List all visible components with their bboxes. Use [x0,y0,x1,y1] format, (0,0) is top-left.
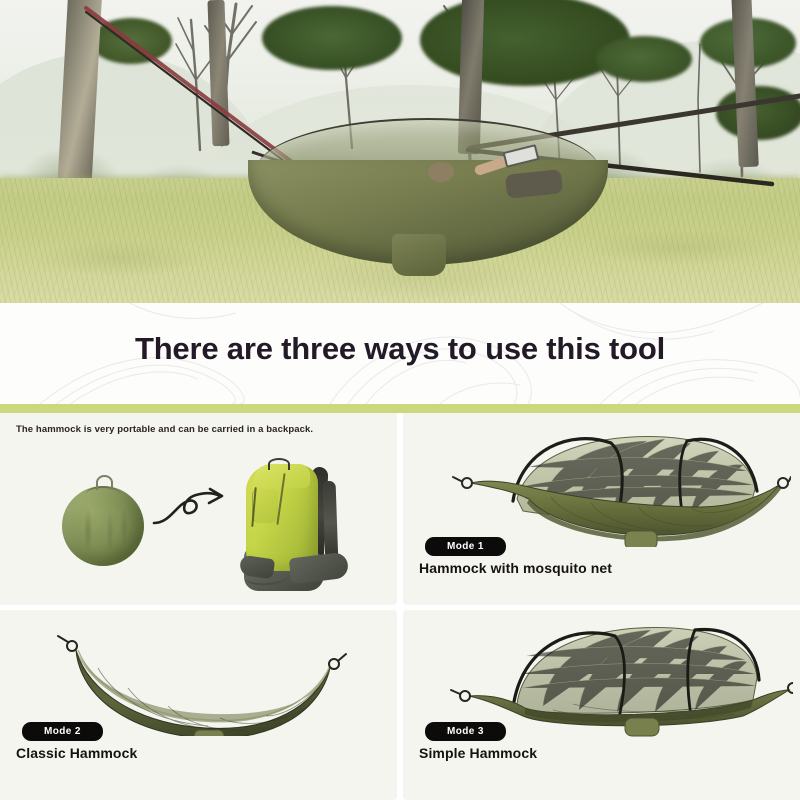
backpack-haul-handle [268,458,290,470]
backpack-illustration [232,463,360,591]
mode-1-title: Hammock with mosquito net [419,559,629,578]
backpack-hip-belt [289,552,350,585]
feature-grid: The hammock is very portable and can be … [0,413,800,800]
mode-3-title: Simple Hammock [419,744,629,763]
product-feature-page: There are three ways to use this tool Th… [0,0,800,800]
sack-hang-loop [96,475,113,490]
hammock-gear-pocket [392,234,446,276]
title-band: There are three ways to use this tool [0,303,800,404]
transform-arrow-icon [152,487,226,533]
simple-hammock-illustration [443,618,793,738]
classic-hammock-illustration [28,620,368,736]
portability-caption: The hammock is very portable and can be … [16,423,316,437]
hammock-with-mosquito-net-illustration [451,427,791,547]
mode-2-title: Classic Hammock [16,744,226,763]
cell-portability[interactable]: The hammock is very portable and can be … [0,413,397,605]
person-in-hammock [428,152,558,192]
badge-mode-2: Mode 2 [22,722,103,741]
badge-mode-1: Mode 1 [425,537,506,556]
cell-mode-3[interactable]: Mode 3 Simple Hammock [403,610,800,800]
accent-divider-bar [0,404,800,413]
person-head [428,162,454,182]
page-title: There are three ways to use this tool [0,331,800,367]
cell-mode-2[interactable]: Mode 2 Classic Hammock [0,610,397,800]
badge-mode-3: Mode 3 [425,722,506,741]
stuff-sack-illustration [62,486,144,566]
hero-hammock [178,108,738,268]
cell-mode-1[interactable]: Mode 1 Hammock with mosquito net [403,413,800,605]
hero-photo [0,0,800,303]
grid-horizontal-divider [0,605,800,610]
